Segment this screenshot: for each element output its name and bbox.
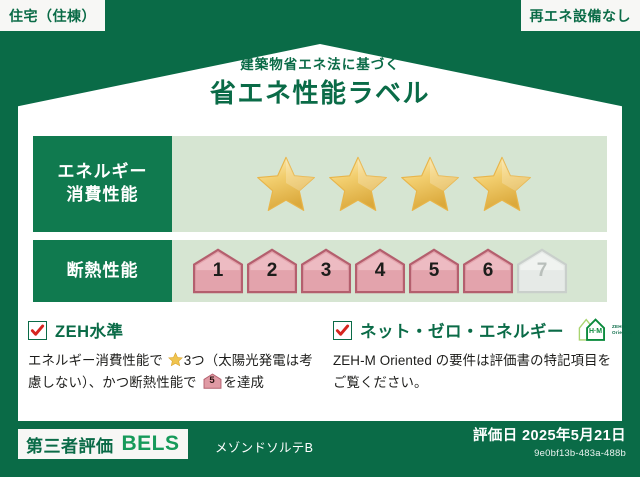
zeh-criteria-body: エネルギー消費性能で 3つ（太陽光発電は考慮しない）、かつ断熱性能で 5 を達成 <box>28 350 321 393</box>
insulation-level-2-number: 2 <box>246 261 298 280</box>
insulation-level-7-number: 7 <box>516 261 568 280</box>
bels-logo-text: BELS <box>122 432 180 456</box>
renewable-energy-tag-label: 再エネ設備なし <box>530 6 632 26</box>
zeh-logo-caption-line2: Oriented <box>612 330 633 335</box>
evaluation-date-value: 2025年5月21日 <box>522 428 626 444</box>
insulation-performance-label: 断熱性能 <box>67 260 139 283</box>
insulation-level-5-number: 5 <box>203 376 222 386</box>
checkmark-icon <box>333 321 352 340</box>
zeh-logo-caption-line1: ZEH-M <box>612 324 628 329</box>
star-icon <box>399 154 461 214</box>
bels-badge: 第三者評価 BELS <box>18 429 188 459</box>
label-title: 建築物省エネ法に基づく 省エネ性能ラベル <box>0 58 640 106</box>
insulation-level-3: 3 <box>300 248 352 294</box>
star-icon <box>168 352 183 367</box>
label-subtitle: 建築物省エネ法に基づく <box>0 58 640 72</box>
insulation-level-5-number: 5 <box>408 261 460 280</box>
insulation-level-5: 5 <box>408 248 460 294</box>
star-icon <box>471 154 533 214</box>
label-main-title: 省エネ性能ラベル <box>0 80 640 106</box>
building-type-tag-label: 住宅（住棟） <box>9 6 96 26</box>
zeh-criteria-title: ZEH水準 <box>55 318 124 342</box>
zeh-body-part3: を達成 <box>224 375 264 390</box>
insulation-level-7: 7 <box>516 248 568 294</box>
zeh-body-part1: エネルギー消費性能で <box>28 353 163 368</box>
insulation-performance-row: 断熱性能 1234567 <box>33 240 607 302</box>
zeh-logo-caption: ZEH-M Oriented <box>612 324 633 335</box>
renewable-energy-tag: 再エネ設備なし <box>521 0 640 31</box>
zeh-criteria-column: ZEH水準 エネルギー消費性能で 3つ（太陽光発電は考慮しない）、かつ断熱性能で… <box>28 318 321 393</box>
energy-performance-label-line1: エネルギー <box>58 161 148 184</box>
evaluation-id: 9e0bf13b-483a-488b <box>473 448 626 459</box>
insulation-level-scale: 1234567 <box>172 240 607 302</box>
insulation-level-6-number: 6 <box>462 261 514 280</box>
checkmark-icon <box>28 321 47 340</box>
insulation-level-1-number: 1 <box>192 261 244 280</box>
label-footer: 第三者評価 BELS メゾンドソルテB 評価日 2025年5月21日 9e0bf… <box>0 421 640 477</box>
building-type-tag: 住宅（住棟） <box>0 0 105 31</box>
building-name: メゾンドソルテB <box>215 437 313 456</box>
netzero-criteria-title: ネット・ゼロ・エネルギー <box>360 318 564 342</box>
star-icon <box>255 154 317 214</box>
insulation-level-6: 6 <box>462 248 514 294</box>
zeh-m-oriented-logo: H·M ZEH-M Oriented <box>576 317 633 343</box>
evaluation-info: 評価日 2025年5月21日 9e0bf13b-483a-488b <box>473 427 626 459</box>
zeh-house-icon: H·M <box>576 317 610 343</box>
insulation-level-2: 2 <box>246 248 298 294</box>
netzero-criteria-body: ZEH-M Oriented の要件は評価書の特記項目をご覧ください。 <box>333 350 614 393</box>
insulation-level-3-number: 3 <box>300 261 352 280</box>
evaluation-date-label: 評価日 <box>473 428 518 444</box>
svg-text:H·M: H·M <box>589 328 602 335</box>
evaluation-date: 評価日 2025年5月21日 <box>473 427 626 446</box>
third-party-eval-label: 第三者評価 <box>26 432 114 457</box>
zeh-criteria-head: ZEH水準 <box>28 318 321 342</box>
energy-star-rating <box>172 136 607 232</box>
insulation-level-4: 4 <box>354 248 406 294</box>
criteria-section: ZEH水準 エネルギー消費性能で 3つ（太陽光発電は考慮しない）、かつ断熱性能で… <box>28 318 614 393</box>
insulation-level-1: 1 <box>192 248 244 294</box>
netzero-criteria-column: ネット・ゼロ・エネルギー H·M ZEH-M Oriented <box>321 318 614 393</box>
energy-performance-label: 住宅（住棟） 再エネ設備なし 建築物省エネ法に基づく 省エネ性能ラベル エネルギ… <box>0 0 640 477</box>
insulation-level-4-number: 4 <box>354 261 406 280</box>
insulation-level-5-icon: 5 <box>203 373 222 389</box>
energy-performance-row: エネルギー 消費性能 <box>33 136 607 232</box>
energy-performance-label-box: エネルギー 消費性能 <box>33 136 172 232</box>
star-icon <box>327 154 389 214</box>
netzero-criteria-head: ネット・ゼロ・エネルギー H·M ZEH-M Oriented <box>333 318 614 342</box>
energy-performance-label-line2: 消費性能 <box>67 184 139 207</box>
insulation-performance-label-box: 断熱性能 <box>33 240 172 302</box>
